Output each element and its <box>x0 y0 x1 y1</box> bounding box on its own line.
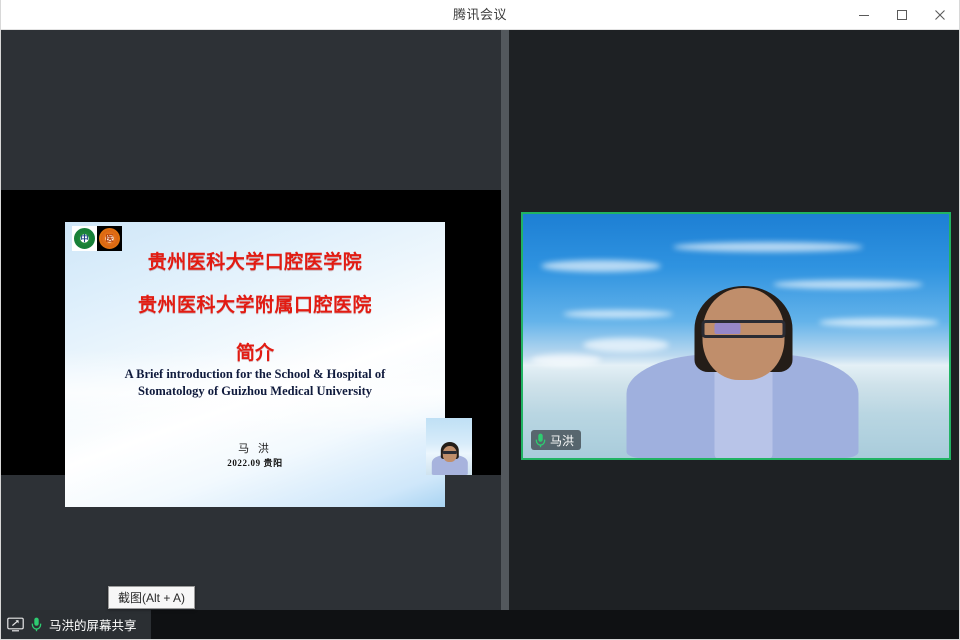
minimize-button[interactable] <box>845 0 883 30</box>
microphone-icon <box>535 433 546 448</box>
slide-subtitle-line-1: A Brief introduction for the School & Ho… <box>65 367 445 383</box>
minimize-icon <box>858 9 870 21</box>
participant-name: 马洪 <box>550 432 574 449</box>
panel-divider[interactable] <box>501 30 509 610</box>
slide-subtitle-line-2: Stomatology of Guizhou Medical Universit… <box>65 384 445 400</box>
maximize-button[interactable] <box>883 0 921 30</box>
screen-share-status[interactable]: 马洪的屏幕共享 <box>1 610 151 639</box>
presentation-slide: 中 医 贵州医科大学口腔医学院 贵州医科大学附属口腔医院 简介 A Brief … <box>65 222 445 507</box>
close-button[interactable] <box>921 0 959 30</box>
screen-share-icon <box>7 617 24 632</box>
participant-person <box>619 278 869 458</box>
slide-logos: 中 医 <box>72 226 122 251</box>
participant-name-badge: 马洪 <box>531 430 581 450</box>
tencent-meeting-window: 腾讯会议 <box>0 0 960 640</box>
hospital-logo-text: 医 <box>99 228 120 249</box>
slide-heading-school: 贵州医科大学口腔医学院 <box>65 252 445 273</box>
shared-screen-panel[interactable]: 中 医 贵州医科大学口腔医学院 贵州医科大学附属口腔医院 简介 A Brief … <box>1 30 509 610</box>
title-bar[interactable]: 腾讯会议 <box>1 0 959 30</box>
window-title: 腾讯会议 <box>1 0 959 30</box>
maximize-icon <box>896 9 908 21</box>
bottom-bar: 马洪的屏幕共享 <box>1 610 959 639</box>
self-view-person <box>430 437 470 475</box>
slide-heading-intro: 简介 <box>65 338 445 365</box>
close-icon <box>934 9 946 21</box>
screenshot-tooltip: 截图(Alt + A) <box>108 586 195 609</box>
slide-date-place: 2022.09 贵阳 <box>65 456 445 469</box>
university-logo-text: 中 <box>74 228 95 249</box>
window-controls <box>845 0 959 30</box>
slide-heading-hospital: 贵州医科大学附属口腔医院 <box>65 295 445 316</box>
screen-share-status-text: 马洪的屏幕共享 <box>49 615 137 634</box>
slide-author: 马 洪 <box>65 440 445 456</box>
self-view-background <box>426 418 472 475</box>
video-panel: 马洪 <box>509 30 959 610</box>
hospital-logo-icon: 医 <box>97 226 122 251</box>
self-view-pip[interactable] <box>426 418 472 475</box>
meeting-stage: 中 医 贵州医科大学口腔医学院 贵州医科大学附属口腔医院 简介 A Brief … <box>1 30 959 610</box>
participant-video-tile[interactable]: 马洪 <box>521 212 951 460</box>
slide-text-block: 贵州医科大学口腔医学院 贵州医科大学附属口腔医院 简介 A Brief intr… <box>65 252 445 400</box>
bottom-microphone-icon <box>31 617 42 632</box>
university-logo-icon: 中 <box>72 226 97 251</box>
